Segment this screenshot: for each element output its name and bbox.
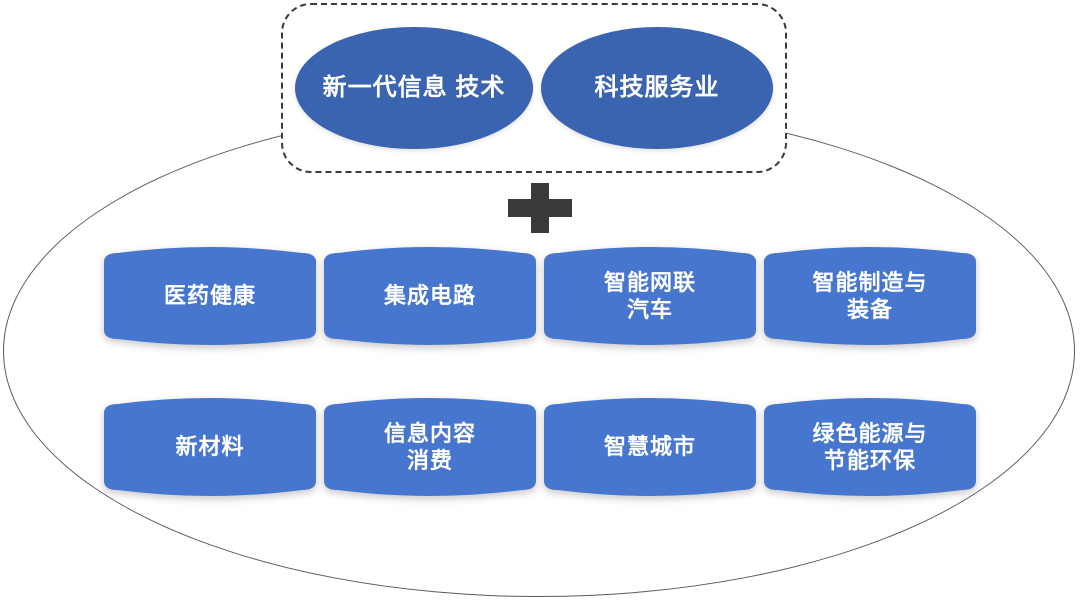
card-smart-city[interactable]: 智慧城市: [544, 393, 756, 501]
card-label: 新材料: [169, 433, 250, 460]
ellipse-label: 科技服务业: [595, 73, 720, 102]
card-label: 智慧城市: [598, 433, 702, 460]
plus-vertical-bar: [531, 183, 549, 233]
card-row-middle: 医药健康 集成电路 智能网联 汽车 智能: [104, 242, 976, 350]
card-medicine-health[interactable]: 医药健康: [104, 242, 316, 350]
card-information-content-consumption[interactable]: 信息内容 消费: [324, 393, 536, 501]
card-label: 医药健康: [158, 282, 262, 309]
card-row-bottom: 新材料 信息内容 消费 智慧城市 绿色能: [104, 393, 976, 501]
card-label: 智能制造与 装备: [806, 269, 933, 324]
ellipse-new-generation-it[interactable]: 新一代信息 技术: [295, 27, 533, 149]
card-label: 信息内容 消费: [378, 420, 482, 475]
outer-ellipse-outline: [3, 105, 1075, 597]
card-integrated-circuit[interactable]: 集成电路: [324, 242, 536, 350]
card-green-energy-conservation[interactable]: 绿色能源与 节能环保: [764, 393, 976, 501]
card-intelligent-manufacturing-equipment[interactable]: 智能制造与 装备: [764, 242, 976, 350]
card-new-materials[interactable]: 新材料: [104, 393, 316, 501]
card-label: 绿色能源与 节能环保: [806, 420, 933, 475]
card-label: 智能网联 汽车: [598, 269, 702, 324]
card-intelligent-connected-vehicles[interactable]: 智能网联 汽车: [544, 242, 756, 350]
card-label: 集成电路: [378, 282, 482, 309]
diagram-canvas: 新一代信息 技术 科技服务业 医药健康 集成电路: [0, 0, 1080, 613]
ellipse-label: 新一代信息 技术: [323, 73, 506, 102]
plus-icon: [508, 183, 572, 233]
ellipse-tech-services[interactable]: 科技服务业: [541, 27, 773, 149]
